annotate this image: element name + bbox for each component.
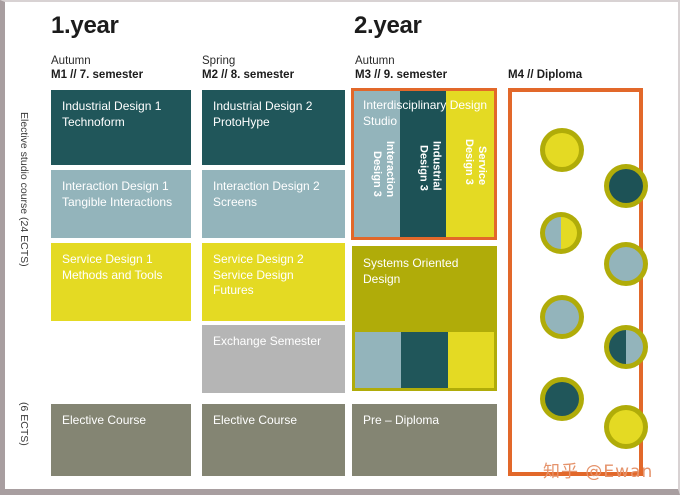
course-line-2: Screens: [213, 195, 334, 211]
course-line-1: Elective Course: [213, 413, 334, 429]
course-line-2: Technoform: [62, 115, 180, 131]
course-line-1: Exchange Semester: [213, 334, 334, 350]
diploma-circle-half: [609, 330, 626, 364]
sod-bar-interaction: [355, 332, 401, 388]
diploma-circle-half: [609, 169, 626, 203]
course-box-pre-diploma[interactable]: Pre – Diploma: [352, 404, 497, 476]
diploma-circle-half: [562, 300, 579, 334]
diploma-circle-half: [626, 247, 643, 281]
diploma-circle[interactable]: [540, 377, 584, 421]
sod-track-bars: [355, 332, 494, 388]
course-box-systems-oriented-design[interactable]: Systems Oriented Design: [352, 246, 497, 391]
diploma-circle-half: [545, 382, 562, 416]
diploma-circle[interactable]: [604, 242, 648, 286]
studio-track-label: Industrial Design 3: [416, 141, 442, 191]
diploma-circle-fill: [545, 217, 577, 249]
diploma-circle-half: [609, 247, 626, 281]
course-box-exchange-semester[interactable]: Exchange Semester: [202, 325, 345, 393]
diploma-circle-half: [626, 169, 643, 203]
semester-label-m4: M4 // Diploma: [508, 68, 582, 82]
column-header-m2: Spring M2 // 8. semester: [202, 54, 294, 82]
diploma-circle-half: [562, 133, 579, 167]
diploma-circle-fill: [545, 133, 579, 167]
course-line-1: Pre – Diploma: [363, 413, 486, 429]
season-label-m2: Spring: [202, 54, 294, 68]
diploma-circle-fill: [609, 410, 643, 444]
course-line-1: Service Design 1: [62, 252, 180, 268]
sod-bar-service: [448, 332, 494, 388]
course-line-1: Interaction Design 2: [213, 179, 334, 195]
column-header-m1: Autumn M1 // 7. semester: [51, 54, 143, 82]
course-box-industrial-design-2[interactable]: Industrial Design 2 ProtoHype: [202, 90, 345, 165]
diploma-circle-half: [545, 133, 562, 167]
column-header-m4: M4 // Diploma: [508, 68, 582, 82]
season-label-m3: Autumn: [355, 54, 447, 68]
course-box-interaction-design-2[interactable]: Interaction Design 2 Screens: [202, 170, 345, 238]
course-box-interaction-design-1[interactable]: Interaction Design 1 Tangible Interactio…: [51, 170, 191, 238]
diploma-circle[interactable]: [604, 325, 648, 369]
axis-label-studio: Elective studio course (24 ECTS): [18, 112, 30, 267]
course-line-1: Interaction Design 1: [62, 179, 180, 195]
course-line-2: Service Design: [213, 268, 334, 284]
course-box-service-design-1[interactable]: Service Design 1 Methods and Tools: [51, 243, 191, 321]
semester-label-m3: M3 // 9. semester: [355, 68, 447, 82]
course-line-1: Industrial Design 2: [213, 99, 334, 115]
axis-label-elective: (6 ECTS): [18, 402, 30, 446]
diploma-circle-half: [609, 410, 626, 444]
diploma-circle-half: [626, 410, 643, 444]
curriculum-diagram: 1.year 2.year Autumn M1 // 7. semester S…: [0, 0, 680, 495]
course-box-elective-m1[interactable]: Elective Course: [51, 404, 191, 476]
diploma-circle-half: [561, 217, 577, 249]
diploma-circle-half: [545, 217, 561, 249]
course-line-2: ProtoHype: [213, 115, 334, 131]
course-line-2: Design: [363, 272, 486, 288]
course-box-service-design-2[interactable]: Service Design 2 Service Design Futures: [202, 243, 345, 321]
course-line-2: Tangible Interactions: [62, 195, 180, 211]
semester-label-m1: M1 // 7. semester: [51, 68, 143, 82]
sod-bar-industrial: [401, 332, 447, 388]
course-line-1: Systems Oriented: [363, 256, 486, 272]
diploma-circle-half: [626, 330, 643, 364]
course-line-2: Methods and Tools: [62, 268, 180, 284]
semester-label-m2: M2 // 8. semester: [202, 68, 294, 82]
watermark-text: 知乎 @Ewan: [543, 457, 653, 482]
course-line-1: Elective Course: [62, 413, 180, 429]
course-line-1: Service Design 2: [213, 252, 334, 268]
diploma-circle-fill: [609, 330, 643, 364]
year-title-2: 2.year: [354, 12, 422, 40]
diploma-circle-fill: [545, 300, 579, 334]
year-title-1: 1.year: [51, 12, 119, 40]
course-line-3: Futures: [213, 283, 334, 299]
season-label-m1: Autumn: [51, 54, 143, 68]
studio-title-line-1: Interdisciplinary: [363, 98, 446, 112]
studio-track-label: Service Design 3: [462, 139, 488, 185]
course-line-1: Industrial Design 1: [62, 99, 180, 115]
diploma-circle[interactable]: [604, 164, 648, 208]
diploma-panel[interactable]: [508, 88, 643, 476]
diploma-circle-fill: [545, 382, 579, 416]
course-box-elective-m2[interactable]: Elective Course: [202, 404, 345, 476]
diploma-circle[interactable]: [540, 128, 584, 172]
diploma-circle[interactable]: [604, 405, 648, 449]
diploma-circle[interactable]: [540, 212, 582, 254]
diploma-circle[interactable]: [540, 295, 584, 339]
diploma-circle-fill: [609, 169, 643, 203]
course-box-industrial-design-1[interactable]: Industrial Design 1 Technoform: [51, 90, 191, 165]
diploma-circle-fill: [609, 247, 643, 281]
diploma-circle-half: [545, 300, 562, 334]
studio-track-label: Interaction Design 3: [370, 141, 396, 197]
studio-title: Interdisciplinary Design Studio: [363, 98, 488, 129]
interdisciplinary-design-studio[interactable]: Interaction Design 3 Industrial Design 3…: [351, 88, 497, 240]
column-header-m3: Autumn M3 // 9. semester: [355, 54, 447, 82]
diploma-circle-half: [562, 382, 579, 416]
